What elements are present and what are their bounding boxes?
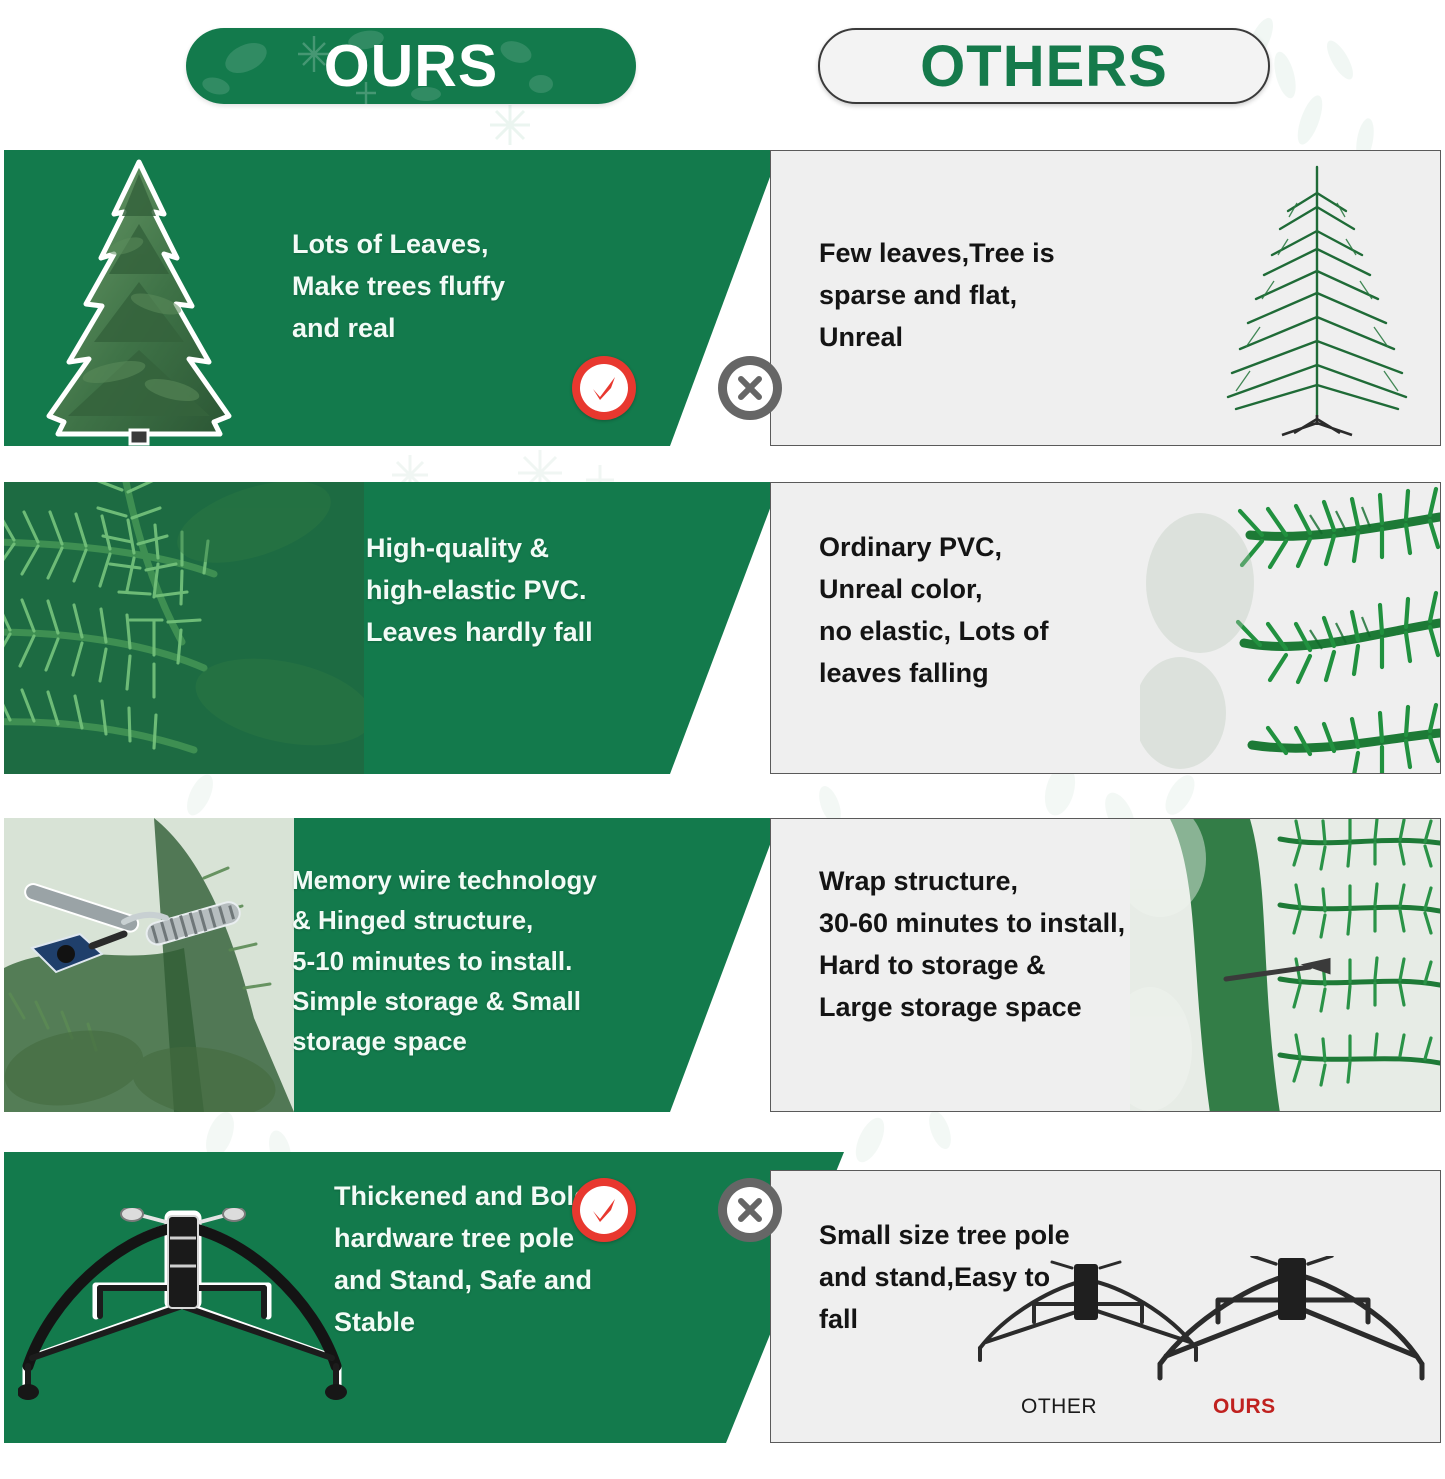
ours-text-line: Lots of Leaves, <box>292 224 652 266</box>
ours-text-line: storage space <box>292 1021 692 1061</box>
others-text-line: leaves falling <box>819 653 1149 695</box>
stand-caption-other: OTHER <box>1021 1395 1097 1419</box>
others-panel-structure: Wrap structure, 30-60 minutes to install… <box>770 818 1441 1112</box>
cross-icon <box>718 1178 782 1242</box>
others-text-line: Unreal <box>819 317 1159 359</box>
photo-full-christmas-tree-dense <box>14 154 264 446</box>
comparison-row-leaves: Lots of Leaves, Make trees fluffy and re… <box>0 150 1445 446</box>
check-icon <box>572 356 636 420</box>
others-text-line: fall <box>819 1299 1149 1341</box>
ours-text-line: and Stand, Safe and <box>334 1260 694 1302</box>
others-text-line: Small size tree pole <box>819 1215 1149 1257</box>
ours-panel-structure: Memory wire technology & Hinged structur… <box>4 818 780 1112</box>
ours-text-line: Thickened and Bold <box>334 1176 694 1218</box>
cross-icon <box>718 356 782 420</box>
ours-text-line: and real <box>292 308 652 350</box>
cross-glyph <box>736 374 764 402</box>
others-text-line: Few leaves,Tree is <box>819 233 1159 275</box>
photo-flat-plastic-branch-closeup <box>1140 483 1440 774</box>
photo-sparse-christmas-tree <box>1202 157 1432 443</box>
ours-panel-stand: Thickened and Bold hardware tree pole an… <box>4 1152 844 1443</box>
check-glyph <box>587 371 621 405</box>
others-text-line: Unreal color, <box>819 569 1149 611</box>
others-text-line: sparse and flat, <box>819 275 1159 317</box>
photo-heavy-duty-metal-tree-stand <box>18 1208 348 1423</box>
others-text-line: and stand,Easy to <box>819 1257 1149 1299</box>
check-icon <box>572 1178 636 1242</box>
ours-text-line: 5-10 minutes to install. <box>292 941 692 981</box>
comparison-row-structure: Memory wire technology & Hinged structur… <box>0 818 1445 1112</box>
ours-text-line: Simple storage & Small <box>292 981 692 1021</box>
others-text-leaves: Few leaves,Tree is sparse and flat, Unre… <box>819 233 1159 359</box>
comparison-row-material: High-quality & high-elastic PVC. Leaves … <box>0 482 1445 774</box>
ours-text-line: Memory wire technology <box>292 860 692 900</box>
ours-text-line: High-quality & <box>366 528 726 570</box>
others-text-line: Hard to storage & <box>819 945 1199 987</box>
others-text-line: Ordinary PVC, <box>819 527 1149 569</box>
cross-glyph <box>736 1196 764 1224</box>
others-text-line: Wrap structure, <box>819 861 1199 903</box>
header: OURS OTHERS <box>0 0 1445 150</box>
others-text-structure: Wrap structure, 30-60 minutes to install… <box>819 861 1199 1028</box>
ours-text-stand: Thickened and Bold hardware tree pole an… <box>334 1176 694 1343</box>
photo-realistic-pine-branch-closeup <box>4 482 364 774</box>
ours-text-leaves: Lots of Leaves, Make trees fluffy and re… <box>292 224 652 350</box>
others-text-line: 30-60 minutes to install, <box>819 903 1199 945</box>
ours-text-line: Make trees fluffy <box>292 266 652 308</box>
ours-panel-material: High-quality & high-elastic PVC. Leaves … <box>4 482 780 774</box>
others-panel-leaves: Few leaves,Tree is sparse and flat, Unre… <box>770 150 1441 446</box>
check-glyph <box>587 1193 621 1227</box>
others-text-stand: Small size tree pole and stand,Easy to f… <box>819 1215 1149 1341</box>
ours-text-line: high-elastic PVC. <box>366 570 726 612</box>
ours-text-line: Stable <box>334 1302 694 1344</box>
ours-pill: OURS <box>186 28 636 104</box>
others-text-line: no elastic, Lots of <box>819 611 1149 653</box>
others-pill: OTHERS <box>818 28 1270 104</box>
ours-text-line: & Hinged structure, <box>292 900 692 940</box>
stand-caption-ours: OURS <box>1213 1395 1276 1419</box>
ours-text-material: High-quality & high-elastic PVC. Leaves … <box>366 528 726 654</box>
ours-text-line: Leaves hardly fall <box>366 612 726 654</box>
others-pill-label: OTHERS <box>920 33 1168 100</box>
others-panel-stand: Small size tree pole and stand,Easy to f… <box>770 1170 1441 1443</box>
others-text-material: Ordinary PVC, Unreal color, no elastic, … <box>819 527 1149 694</box>
ours-text-structure: Memory wire technology & Hinged structur… <box>292 860 692 1061</box>
others-panel-material: Ordinary PVC, Unreal color, no elastic, … <box>770 482 1441 774</box>
pill-snow-texture <box>186 28 636 104</box>
others-text-line: Large storage space <box>819 987 1199 1029</box>
ours-text-line: hardware tree pole <box>334 1218 694 1260</box>
comparison-infographic: OURS OTHERS <box>0 0 1445 1479</box>
ours-panel-leaves: Lots of Leaves, Make trees fluffy and re… <box>4 150 780 446</box>
photo-hinged-branch-hardware-closeup <box>4 818 294 1112</box>
